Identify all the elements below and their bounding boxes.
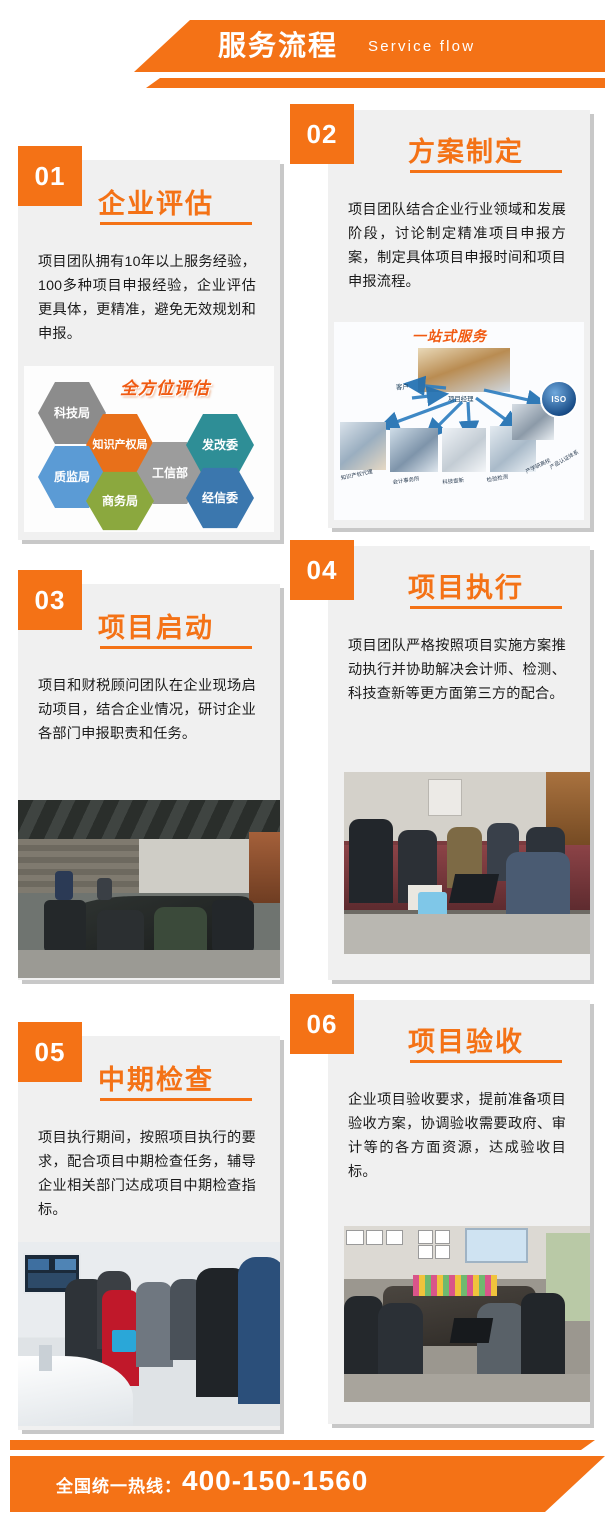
step-card-02: 方案制定 项目团队结合企业行业领域和发展阶段，讨论制定精准项目申报方案，制定具体… (328, 110, 590, 528)
service-flow-infographic: 服务流程 Service flow 企业评估 项目团队拥有10年以上服务经验，1… (0, 0, 605, 1538)
card-body-01: 项目团队拥有10年以上服务经验，100多种项目申报经验，企业评估更具体，更精准，… (38, 250, 256, 346)
card-title-05: 中期检查 (98, 1058, 214, 1097)
page-footer: 全国统一热线： 400-150-1560 (0, 1428, 605, 1538)
oss-client-label: 客户 (396, 382, 409, 391)
oss-node-photo-2 (390, 428, 438, 472)
oss-node-photo-1 (340, 422, 386, 470)
card-title-03: 项目启动 (98, 606, 214, 645)
card-body-04: 项目团队严格按照项目实施方案推动执行并协助解决会计师、检测、科技查新等更方面第三… (348, 634, 566, 706)
exhibition-visit-photo (18, 1242, 280, 1426)
card-body-03: 项目和财税顾问团队在企业现场启动项目，结合企业情况，研讨企业各部门申报职责和任务… (38, 674, 256, 746)
step-badge-02: 02 (290, 104, 354, 164)
card-body-05: 项目执行期间，按照项目执行的要求，配合项目中期检查任务，辅导企业相关部门达成项目… (38, 1126, 256, 1222)
card-body-06: 企业项目验收要求，提前准备项目验收方案，协调验收需要政府、审计等的各方面资源，达… (348, 1088, 566, 1184)
card-title-rule-03 (100, 646, 252, 649)
one-stop-service-diagram: 一站式服务 客户 (334, 322, 584, 520)
page-title: 服务流程 (218, 26, 338, 66)
step-badge-05: 05 (18, 1022, 82, 1082)
card-title-06: 项目验收 (408, 1020, 524, 1059)
card-body-02: 项目团队结合企业行业领域和发展阶段，讨论制定精准项目申报方案，制定具体项目申报时… (348, 198, 566, 294)
hexagon-chart: 全方位评估 科技局 知识产权局 质监局 工信部 商务局 发改委 经信委 (24, 366, 274, 532)
step-badge-03: 03 (18, 570, 82, 630)
card-title-rule-06 (410, 1060, 562, 1063)
boardroom-meeting-photo (344, 1226, 590, 1402)
card-title-rule-04 (410, 606, 562, 609)
step-badge-01: 01 (18, 146, 82, 206)
card-title-rule-02 (410, 170, 562, 173)
oss-node-photo-3 (442, 428, 486, 472)
footer-accent-stripe (10, 1440, 595, 1450)
step-card-01: 企业评估 项目团队拥有10年以上服务经验，100多种项目申报经验，企业评估更具体… (18, 160, 280, 540)
card-title-02: 方案制定 (408, 130, 524, 169)
step-badge-04: 04 (290, 540, 354, 600)
hexagon-chart-title: 全方位评估 (120, 374, 210, 399)
step-card-05: 中期检查 项目执行期间，按照项目执行的要求，配合项目中期检查任务，辅导企业相关部… (18, 1036, 280, 1430)
step-badge-06: 06 (290, 994, 354, 1054)
step-card-06: 项目验收 企业项目验收要求，提前准备项目验收方案，协调验收需要政府、审计等的各方… (328, 1000, 590, 1424)
hotline-label: 全国统一热线： (56, 1472, 182, 1497)
hotline-number: 400-150-1560 (182, 1465, 368, 1497)
step-card-03: 项目启动 项目和财税顾问团队在企业现场启动项目，结合企业情况，研讨企业各部门申报… (18, 584, 280, 980)
card-title-rule-01 (100, 222, 252, 225)
card-title-04: 项目执行 (408, 566, 524, 605)
page-subtitle: Service flow (368, 36, 475, 58)
page-header: 服务流程 Service flow (0, 0, 605, 100)
oss-center-label: 项目经理 (448, 394, 474, 403)
card-title-01: 企业评估 (98, 182, 214, 221)
meeting-laptops-photo (344, 772, 590, 954)
step-card-04: 项目执行 项目团队严格按照项目实施方案推动执行并协助解决会计师、检测、科技查新等… (328, 546, 590, 980)
oss-certification-seal: ISO (540, 380, 578, 418)
header-accent-stripe (146, 78, 605, 88)
conference-room-photo (18, 800, 280, 978)
card-title-rule-05 (100, 1098, 252, 1101)
